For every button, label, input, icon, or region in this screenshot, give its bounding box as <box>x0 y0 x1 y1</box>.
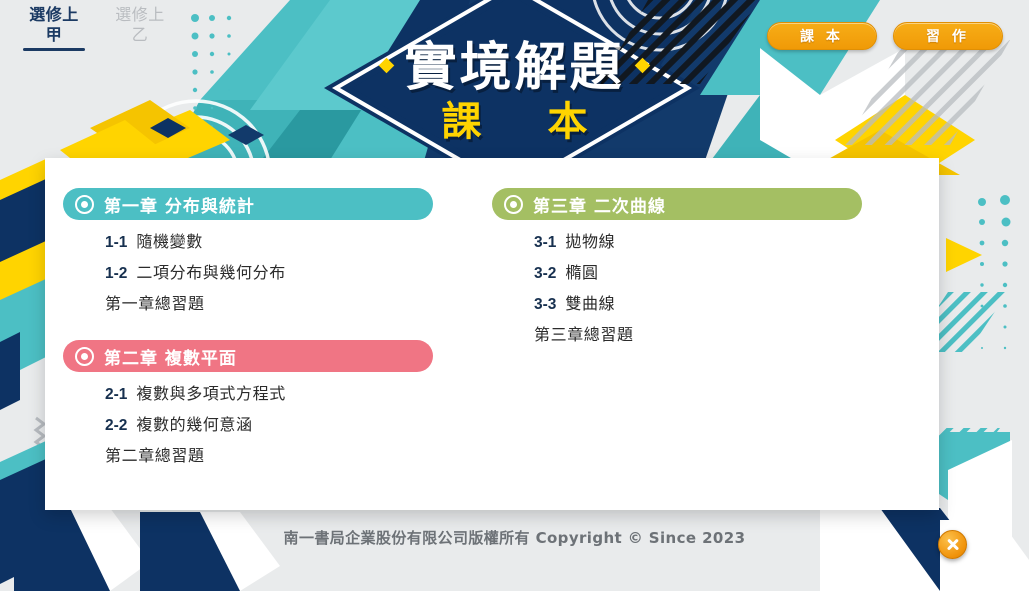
course-tabs: 選修上 甲 選修上 乙 <box>18 6 176 51</box>
tab-optional-b[interactable]: 選修上 乙 <box>104 6 176 51</box>
chapter-3-header[interactable]: 第三章 二次曲線 <box>492 188 862 220</box>
section-1-1[interactable]: 1-1 隨機變數 <box>105 228 492 252</box>
chapter-1-sections: 1-1 隨機變數 1-2 二項分布與幾何分布 第一章總習題 <box>63 220 492 314</box>
toc-column-left: 第一章 分布與統計 1-1 隨機變數 1-2 二項分布與幾何分布 第一章總習題 <box>63 188 492 492</box>
section-3-3-number: 3-3 <box>534 296 556 314</box>
tab-optional-a[interactable]: 選修上 甲 <box>18 6 90 51</box>
banner-title: 實境解題 <box>404 38 624 98</box>
diamond-bullet-right-icon <box>634 57 650 73</box>
section-3-summary[interactable]: 第三章總習題 <box>534 321 921 345</box>
section-2-summary[interactable]: 第二章總習題 <box>105 442 492 466</box>
section-2-2-label: 複數的幾何意涵 <box>136 411 252 435</box>
tab-optional-a-line2: 甲 <box>18 26 90 46</box>
section-1-2-label: 二項分布與幾何分布 <box>136 259 285 283</box>
section-1-1-number: 1-1 <box>105 234 127 252</box>
table-of-contents-card: 第一章 分布與統計 1-1 隨機變數 1-2 二項分布與幾何分布 第一章總習題 <box>45 158 939 510</box>
section-1-summary-label: 第一章總習題 <box>105 290 205 314</box>
close-button[interactable] <box>938 530 967 559</box>
chapter-2-title: 第二章 複數平面 <box>104 344 237 369</box>
mode-buttons: 課 本 習 作 <box>767 22 1003 50</box>
target-icon <box>75 347 94 366</box>
section-3-2-label: 橢圓 <box>565 259 598 283</box>
tab-active-underline <box>23 48 85 51</box>
section-1-2[interactable]: 1-2 二項分布與幾何分布 <box>105 259 492 283</box>
banner-subtitle: 課 本 <box>0 102 1029 142</box>
diamond-bullet-left-icon <box>379 57 395 73</box>
section-3-1-number: 3-1 <box>534 234 556 252</box>
tab-optional-b-line1: 選修上 <box>104 6 176 26</box>
chapter-3-title: 第三章 二次曲線 <box>533 192 666 217</box>
chapter-1: 第一章 分布與統計 1-1 隨機變數 1-2 二項分布與幾何分布 第一章總習題 <box>63 188 492 314</box>
tab-optional-a-line1: 選修上 <box>18 6 90 26</box>
section-3-3-label: 雙曲線 <box>565 290 615 314</box>
tab-optional-b-line2: 乙 <box>104 26 176 46</box>
section-3-3[interactable]: 3-3 雙曲線 <box>534 290 921 314</box>
section-2-2-number: 2-2 <box>105 417 127 435</box>
chapter-3-sections: 3-1 拋物線 3-2 橢圓 3-3 雙曲線 第三章總習題 <box>492 220 921 345</box>
section-1-1-label: 隨機變數 <box>136 228 202 252</box>
chapter-2-sections: 2-1 複數與多項式方程式 2-2 複數的幾何意涵 第二章總習題 <box>63 372 492 466</box>
banner-title-block: 實境解題 課 本 <box>0 42 1029 142</box>
section-1-2-number: 1-2 <box>105 265 127 283</box>
chapter-1-title: 第一章 分布與統計 <box>104 192 255 217</box>
section-3-2[interactable]: 3-2 橢圓 <box>534 259 921 283</box>
section-2-1-label: 複數與多項式方程式 <box>136 380 285 404</box>
target-icon <box>75 195 94 214</box>
section-2-summary-label: 第二章總習題 <box>105 442 205 466</box>
target-icon <box>504 195 523 214</box>
section-1-summary[interactable]: 第一章總習題 <box>105 290 492 314</box>
chapter-2-header[interactable]: 第二章 複數平面 <box>63 340 433 372</box>
chapter-2: 第二章 複數平面 2-1 複數與多項式方程式 2-2 複數的幾何意涵 第二章總習… <box>63 340 492 466</box>
chapter-3: 第三章 二次曲線 3-1 拋物線 3-2 橢圓 3-3 雙 <box>492 188 921 345</box>
section-3-summary-label: 第三章總習題 <box>534 321 634 345</box>
chapter-1-header[interactable]: 第一章 分布與統計 <box>63 188 433 220</box>
workbook-button[interactable]: 習 作 <box>893 22 1003 50</box>
toc-columns: 第一章 分布與統計 1-1 隨機變數 1-2 二項分布與幾何分布 第一章總習題 <box>45 188 939 492</box>
section-2-1-number: 2-1 <box>105 386 127 404</box>
close-icon <box>945 537 960 552</box>
section-2-1[interactable]: 2-1 複數與多項式方程式 <box>105 380 492 404</box>
copyright-text: 南一書局企業股份有限公司版權所有 Copyright © Since 2023 <box>0 527 1029 548</box>
section-3-2-number: 3-2 <box>534 265 556 283</box>
section-2-2[interactable]: 2-2 複數的幾何意涵 <box>105 411 492 435</box>
textbook-button[interactable]: 課 本 <box>767 22 877 50</box>
app-root: 選修上 甲 選修上 乙 課 本 習 作 實境解題 課 本 <box>0 0 1029 591</box>
section-3-1-label: 拋物線 <box>565 228 615 252</box>
toc-column-right: 第三章 二次曲線 3-1 拋物線 3-2 橢圓 3-3 雙 <box>492 188 921 492</box>
section-3-1[interactable]: 3-1 拋物線 <box>534 228 921 252</box>
